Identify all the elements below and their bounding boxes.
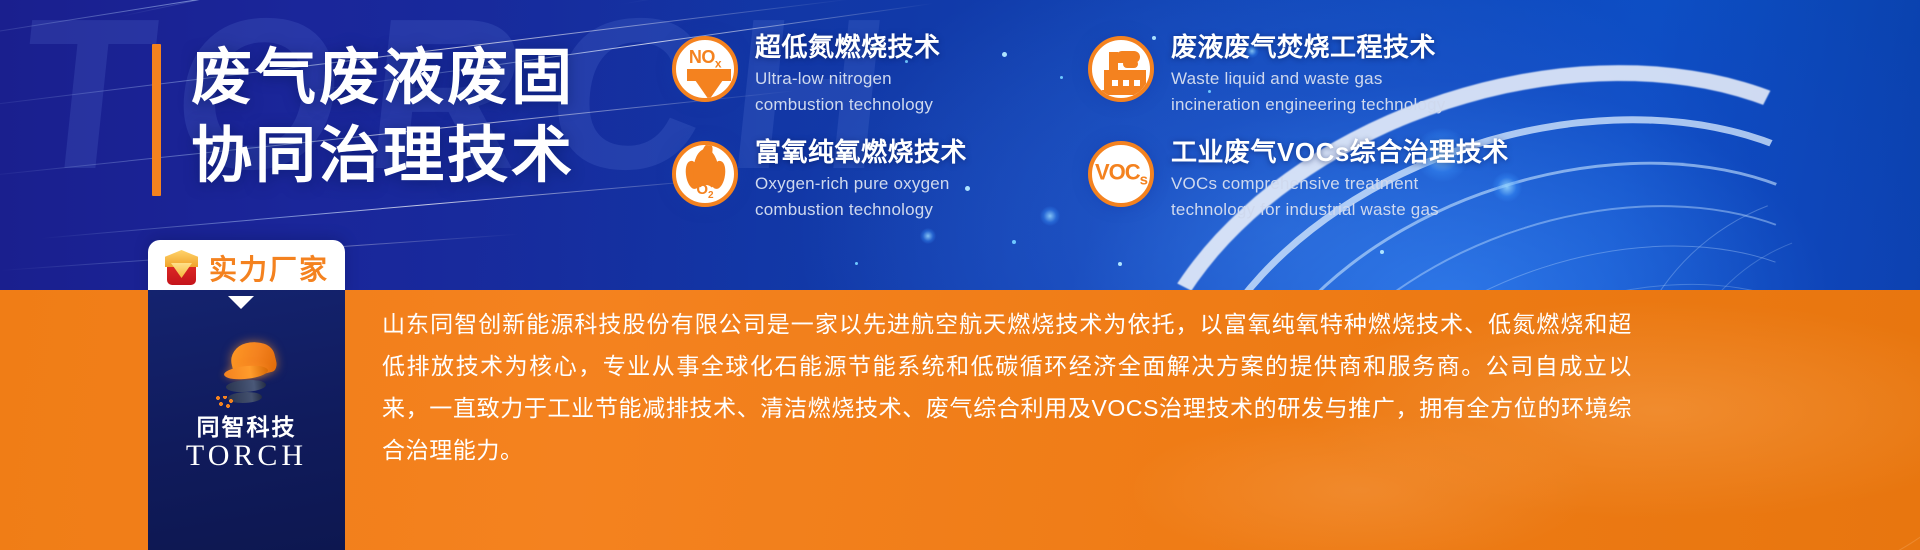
oxygen-icon-label: O	[696, 181, 708, 198]
title-line-1: 废气废液废固	[191, 38, 575, 116]
promo-banner: TORCH	[0, 0, 1920, 550]
badge-pointer	[228, 296, 254, 309]
feature-title-en-line1: Oxygen-rich pure oxygen	[755, 173, 967, 196]
oxygen-icon-sub: 2	[708, 190, 714, 201]
strength-badge: 实力厂家	[148, 240, 345, 296]
medal-icon	[165, 250, 198, 286]
factory-icon	[1088, 36, 1154, 102]
title-line-2: 协同治理技术	[191, 116, 575, 194]
feature-item-incineration: 废液废气焚烧工程技术 Waste liquid and waste gas in…	[1088, 32, 1518, 137]
feature-item-oxygen: O2 富氧纯氧燃烧技术 Oxygen-rich pure oxygen comb…	[672, 137, 1072, 242]
feature-item-nox: NOx 超低氮燃烧技术 Ultra-low nitrogen combustio…	[672, 32, 1072, 137]
title-accent-bar	[152, 44, 161, 196]
logo-name-en: TORCH	[186, 440, 307, 472]
feature-title-en-line1: Waste liquid and waste gas	[1171, 68, 1445, 91]
vocs-icon: VOCs	[1088, 141, 1154, 207]
feature-title-en-line1: VOCs comprehensive treatment	[1171, 173, 1509, 196]
feature-title-cn: 超低氮燃烧技术	[755, 32, 941, 64]
feature-title-en-line2: incineration engineering technology	[1171, 94, 1445, 117]
feature-list: NOx 超低氮燃烧技术 Ultra-low nitrogen combustio…	[672, 32, 1518, 242]
logo-panel: 同智科技 TORCH	[148, 290, 345, 550]
nox-icon-label: NO	[689, 47, 715, 67]
feature-title-en-line1: Ultra-low nitrogen	[755, 68, 941, 91]
feature-title-cn: 富氧纯氧燃烧技术	[755, 137, 967, 169]
feature-item-vocs: VOCs 工业废气VOCs综合治理技术 VOCs comprehensive t…	[1088, 137, 1518, 242]
nox-icon: NOx	[672, 36, 738, 102]
torch-flame-icon	[218, 344, 276, 410]
logo-name-cn: 同智科技	[197, 415, 297, 440]
title-block: 废气废液废固 协同治理技术	[152, 38, 575, 196]
feature-title-cn: 废液废气焚烧工程技术	[1171, 32, 1445, 64]
nox-arrow-tip	[695, 80, 723, 100]
feature-title-en-line2: combustion technology	[755, 199, 967, 222]
page-title: 废气废液废固 协同治理技术	[191, 38, 575, 196]
vocs-icon-sub: s	[1140, 172, 1147, 189]
company-description: 山东同智创新能源科技股份有限公司是一家以先进航空航天燃烧技术为依托，以富氧纯氧特…	[382, 304, 1632, 471]
feature-title-en-line2: technology for industrial waste gas	[1171, 199, 1509, 222]
strength-badge-label: 实力厂家	[209, 248, 329, 288]
flame-oxygen-icon: O2	[672, 141, 738, 207]
vocs-icon-label: VOC	[1095, 159, 1140, 184]
feature-title-en-line2: combustion technology	[755, 94, 941, 117]
feature-title-cn: 工业废气VOCs综合治理技术	[1171, 137, 1509, 169]
